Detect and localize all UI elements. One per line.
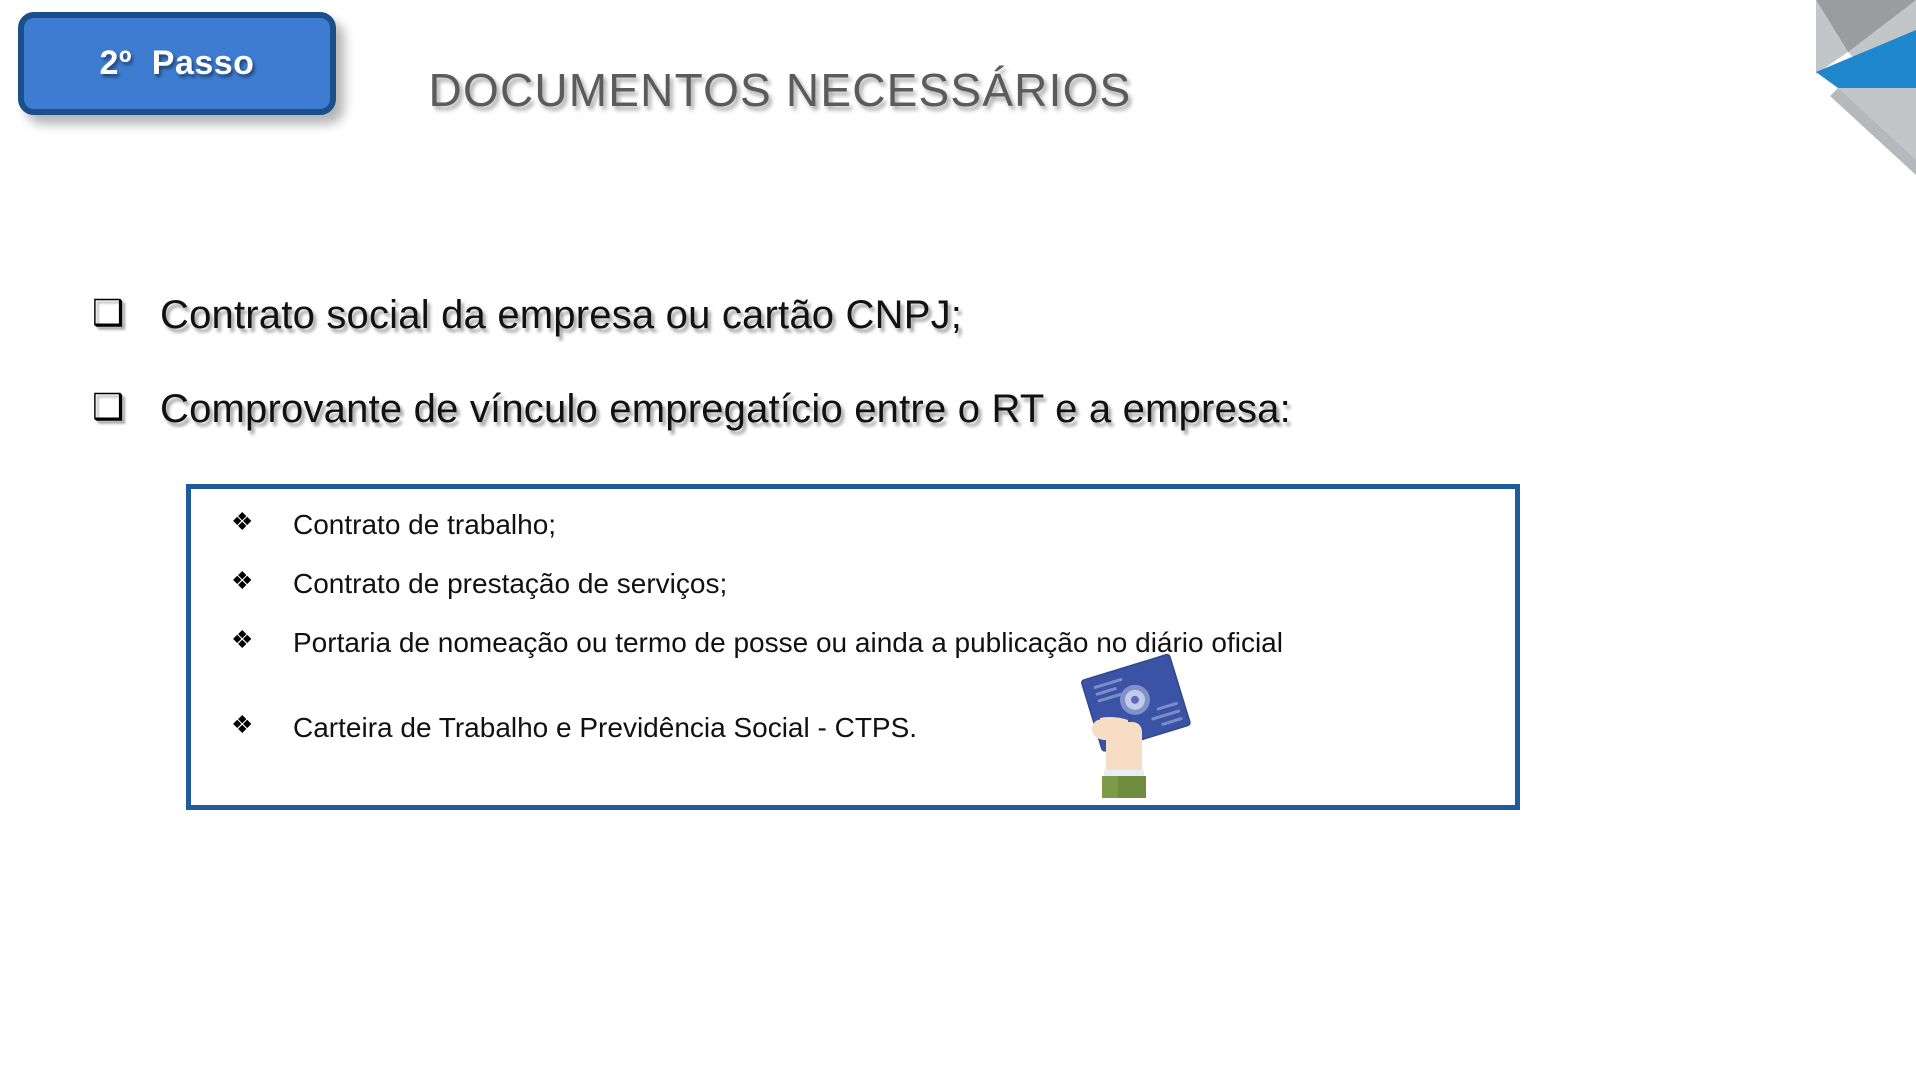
- list-item: ❑ Contrato social da empresa ou cartão C…: [92, 292, 1692, 338]
- hollow-square-bullet-icon: ❑: [92, 386, 138, 427]
- main-bullet-list: ❑ Contrato social da empresa ou cartão C…: [92, 292, 1692, 480]
- diamond-bullet-icon: ❖: [231, 710, 293, 741]
- documents-sub-list-box: ❖ Contrato de trabalho; ❖ Contrato de pr…: [186, 484, 1520, 810]
- main-item-text-1: Comprovante de vínculo empregatício entr…: [160, 386, 1291, 432]
- list-item: ❖ Contrato de prestação de serviços;: [231, 566, 1491, 603]
- diamond-bullet-icon: ❖: [231, 625, 293, 656]
- page-title-text: DOCUMENTOS NECESSÁRIOS: [429, 63, 1132, 117]
- diamond-bullet-icon: ❖: [231, 566, 293, 597]
- list-item: ❖ Portaria de nomeação ou termo de posse…: [231, 625, 1491, 662]
- list-item: ❑ Comprovante de vínculo empregatício en…: [92, 386, 1692, 432]
- slide-canvas: 2º Passo DOCUMENTOS NECESSÁRIOS ❑ Contra…: [0, 0, 1916, 1079]
- sub-item-text-2: Portaria de nomeação ou termo de posse o…: [293, 625, 1283, 662]
- sub-item-text-1: Contrato de prestação de serviços;: [293, 566, 727, 603]
- sub-bullet-list: ❖ Contrato de trabalho; ❖ Contrato de pr…: [231, 507, 1491, 769]
- list-item: ❖ Carteira de Trabalho e Previdência Soc…: [231, 710, 1491, 747]
- page-title: DOCUMENTOS NECESSÁRIOS: [0, 63, 1916, 117]
- sub-item-text-0: Contrato de trabalho;: [293, 507, 556, 544]
- sub-item-text-3: Carteira de Trabalho e Previdência Socia…: [293, 710, 917, 747]
- main-item-text-0: Contrato social da empresa ou cartão CNP…: [160, 292, 962, 338]
- hollow-square-bullet-icon: ❑: [92, 292, 138, 333]
- list-item: ❖ Contrato de trabalho;: [231, 507, 1491, 544]
- diamond-bullet-icon: ❖: [231, 507, 293, 538]
